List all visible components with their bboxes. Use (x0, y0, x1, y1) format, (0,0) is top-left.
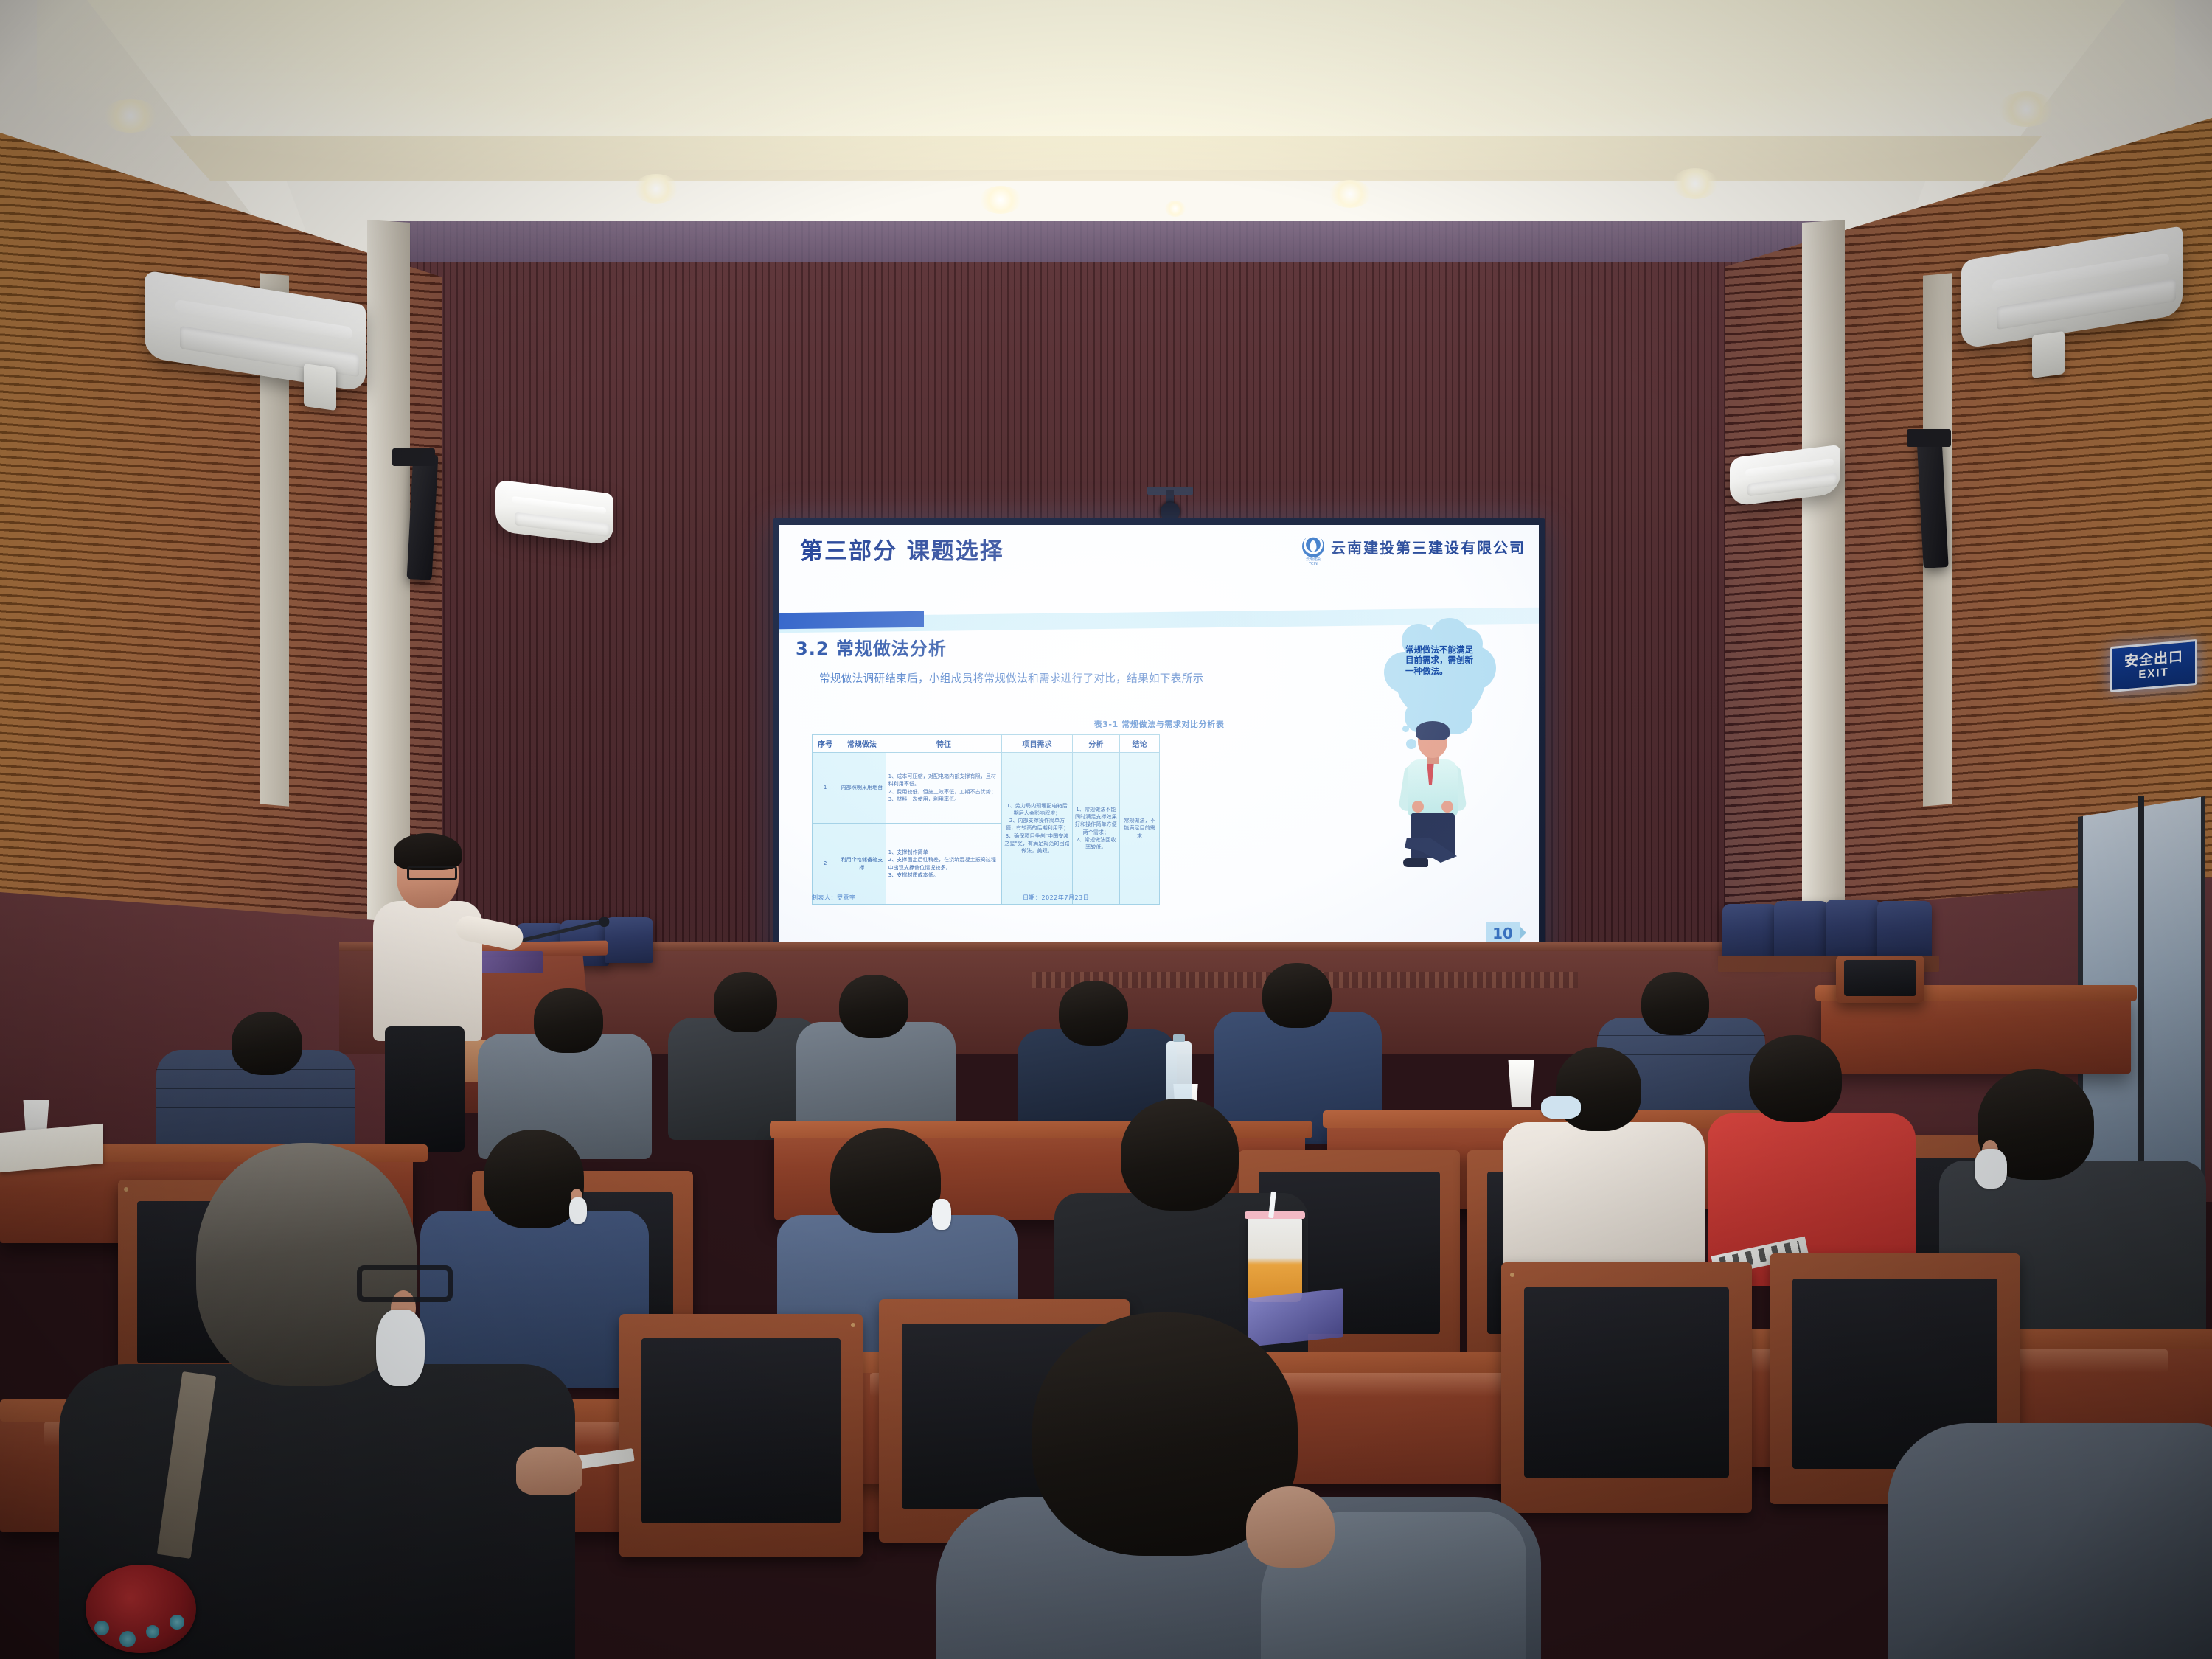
attendee-foreground-left (59, 1143, 575, 1659)
exit-sign-cn-label: 安全出口 (2124, 650, 2183, 669)
table-cell-method: 利用个格储备箱支撑 (838, 824, 886, 905)
attendee-head (839, 975, 908, 1038)
attendee-red-jacket (1700, 1035, 1921, 1286)
sequin-decoration (119, 1631, 136, 1647)
attendee-head (1059, 981, 1128, 1046)
company-name: 云南建投第三建设有限公司 (1331, 536, 1526, 557)
ceiling-downlight (634, 174, 678, 204)
theater-seat[interactable] (1877, 901, 1932, 959)
theater-seat[interactable] (1826, 900, 1880, 957)
exit-sign-en-label: EXIT (2138, 667, 2168, 681)
attendee-foreground-right (936, 1312, 1541, 1659)
attendee (792, 975, 961, 1144)
attendee-head (1121, 1099, 1239, 1211)
table-header-cell: 结论 (1120, 735, 1160, 753)
conference-hall-photo: 安全出口 EXIT 第三部分 课题选择 云南建投 YCIN 云南建投第三建设有限… (0, 0, 2212, 1659)
table-row: 1 内部照明采用地台 1、成本可压缩，对配电箱内部支撑有限，且材料利用率低。 2… (813, 753, 1160, 824)
sequin-decoration (146, 1625, 159, 1638)
ceiling-downlight (1998, 91, 2054, 127)
ceiling-downlight (103, 99, 158, 133)
attendee-foreground-far-right (1888, 1379, 2212, 1659)
table-header-cell: 分析 (1072, 735, 1119, 753)
theater-seat[interactable] (605, 917, 653, 963)
ceiling-downlight (979, 186, 1022, 214)
attendee-head (830, 1128, 941, 1233)
slide-accent-bar (779, 611, 924, 629)
eyeglasses-icon (357, 1265, 453, 1302)
company-logo-icon: 云南建投 YCIN (1302, 535, 1324, 557)
thought-bubble-text: 常规做法不能满足目前需求，需创新一种做法。 (1405, 644, 1477, 676)
table-cell-conclusion: 常规做法，不能满足目前需求 (1120, 753, 1160, 905)
presenter-hair (394, 833, 462, 870)
wall-speaker-left (304, 364, 336, 411)
attendee-head (1641, 972, 1709, 1035)
sequin-decoration (170, 1615, 184, 1630)
attendee-head (714, 972, 777, 1032)
hand (516, 1447, 582, 1495)
slide-footer-author: 制表人：罗意宇 (812, 894, 856, 902)
jacket-embroidery-badge (86, 1565, 196, 1653)
slide-section-heading: 3.2 常规做法分析 (796, 634, 947, 660)
slide-body-text: 常规做法调研结束后，小组成员将常规做法和需求进行了对比，结果如下表所示 (793, 671, 1206, 687)
table-cell-method: 内部照明采用地台 (838, 753, 886, 824)
face-mask (376, 1310, 425, 1386)
sequin-decoration (94, 1621, 109, 1635)
slide-footer-date: 日期：2022年7月23日 (1023, 894, 1089, 902)
table-header-cell: 项目需求 (1002, 735, 1072, 753)
attendee-head (232, 1012, 302, 1075)
wall-upper-band (383, 221, 1843, 262)
table-cell-no: 2 (813, 824, 838, 905)
table-cell-no: 1 (813, 753, 838, 824)
attendee-head (1262, 963, 1332, 1028)
comparison-table: 序号 常规做法 特征 项目需求 分析 结论 1 内部照明采用地台 1、成本可压缩… (812, 734, 1160, 905)
speaker-bracket-left (392, 448, 435, 466)
attendee (472, 988, 656, 1150)
ceiling-downlight (1165, 201, 1186, 217)
attendee-head (1749, 1035, 1842, 1122)
presenter-glasses-icon (407, 866, 457, 880)
attendee-head (534, 988, 603, 1053)
thought-bubble: 常规做法不能满足目前需求，需创新一种做法。 (1396, 634, 1486, 723)
table-cell-demand: 1、劳力局内预埋配电箱后期后人会影响程度； 2、内部支撑操作简单方便，有较高的后… (1002, 753, 1072, 905)
projection-screen: 第三部分 课题选择 云南建投 YCIN 云南建投第三建设有限公司 3.2 常规做… (773, 518, 1545, 965)
table-cell-features: 1、成本可压缩，对配电箱内部支撑有限，且材料利用率低。 2、费用较低，但施工效率… (886, 753, 1002, 824)
attendee-jacket (1888, 1423, 2212, 1659)
table-header-cell: 特征 (886, 735, 1002, 753)
wall-speaker-right (2032, 331, 2065, 378)
face-mask (1975, 1149, 2007, 1189)
table-header-row: 序号 常规做法 特征 项目需求 分析 结论 (813, 735, 1160, 753)
company-logo-caption: 云南建投 YCIN (1302, 558, 1324, 566)
theater-seat[interactable] (1722, 904, 1777, 961)
face-mask (1541, 1096, 1581, 1119)
milk-tea-cup[interactable] (1248, 1217, 1302, 1302)
presentation-slide: 第三部分 课题选择 云南建投 YCIN 云南建投第三建设有限公司 3.2 常规做… (779, 525, 1539, 959)
slide-title: 第三部分 课题选择 (800, 532, 1004, 566)
cartoon-businessman-illustration (1397, 724, 1468, 872)
stage-chair-right[interactable] (1836, 956, 1924, 1003)
table-cell-features: 1、支撑制作简单 2、支撑固定后性稍差，在浇筑混凝土振捣过程中出现支撑偏位情况较… (886, 824, 1002, 905)
company-logo-block: 云南建投 YCIN 云南建投第三建设有限公司 (1302, 535, 1526, 557)
hand (1246, 1486, 1335, 1568)
attendee-white-coat (1497, 1047, 1711, 1290)
theater-seat[interactable] (1774, 901, 1829, 959)
ceiling-downlight (1672, 168, 1718, 199)
table-header-cell: 序号 (813, 735, 838, 753)
table-header-cell: 常规做法 (838, 735, 886, 753)
speaker-bracket-right (1907, 429, 1951, 447)
face-mask (932, 1199, 951, 1230)
table-cell-analysis: 1、常规做法不能同时满足支撑效果好和操作简单方便两个需求； 2、常规做法回收率较… (1072, 753, 1119, 905)
audience-chair[interactable] (619, 1314, 863, 1557)
ceiling-downlight (1329, 180, 1371, 208)
exit-sign: 安全出口 EXIT (2110, 639, 2197, 692)
